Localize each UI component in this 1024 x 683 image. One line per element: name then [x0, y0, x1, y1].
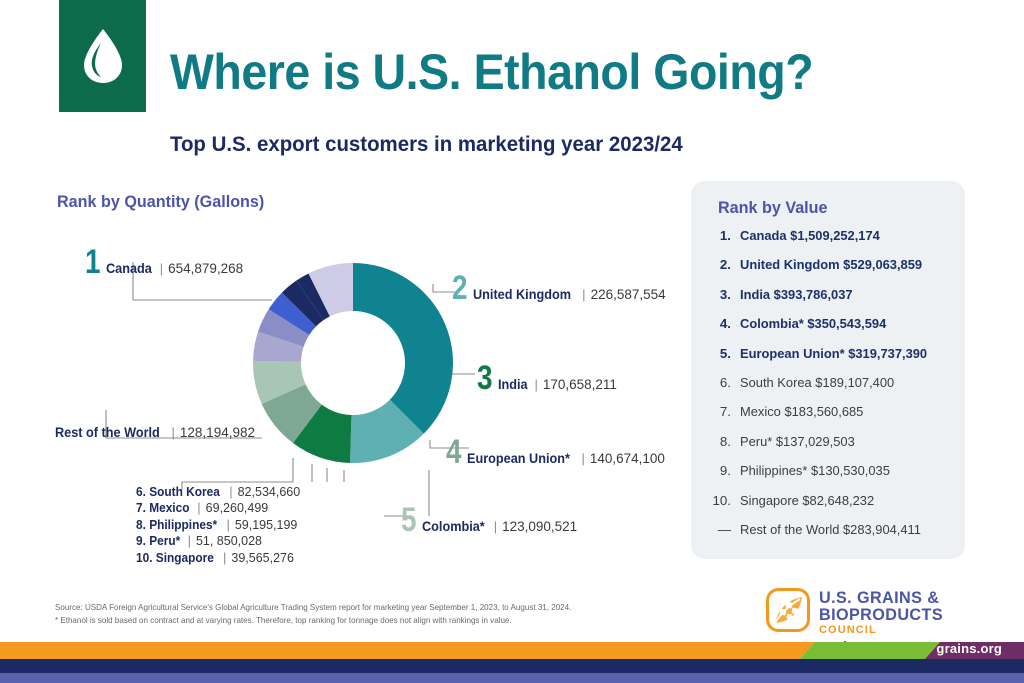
- page-title: Where is U.S. Ethanol Going?: [170, 47, 813, 97]
- page-subtitle: Top U.S. export customers in marketing y…: [170, 132, 683, 157]
- callout-rank-2: 2: [452, 271, 468, 305]
- council-name-line2: BIOPRODUCTS: [819, 607, 943, 624]
- value-rank-item-11: —Rest of the World $283,904,411: [705, 522, 927, 537]
- callout-value-2: 226,587,554: [591, 287, 666, 302]
- value-rank-text: Peru* $137,029,503: [740, 434, 855, 449]
- value-rank-text: European Union* $319,737,390: [740, 346, 927, 361]
- value-rank-item-3: 3.India $393,786,037: [705, 287, 856, 302]
- list-item: 9. Peru* | 51, 850,028: [136, 533, 300, 549]
- callout-value-3: 170,658,211: [543, 377, 617, 392]
- minor-value-9: 51, 850,028: [196, 533, 262, 549]
- value-rank-number: 2.: [705, 257, 731, 272]
- value-rank-text: Mexico $183,560,685: [740, 404, 863, 419]
- callout-value-1: 654,879,268: [168, 261, 243, 276]
- minor-value-6: 82,534,660: [238, 484, 301, 500]
- value-rank-item-2: 2.United Kingdom $529,063,859: [705, 257, 928, 272]
- value-rank-item-5: 5.European Union* $319,737,390: [705, 346, 933, 361]
- value-rank-number: 1.: [705, 228, 731, 243]
- callout-separator: |: [226, 517, 229, 533]
- callout-rank-3: 3: [477, 361, 493, 395]
- value-rank-number: 8.: [705, 434, 731, 449]
- value-rank-number: 5.: [705, 346, 731, 361]
- minor-value-7: 69,260,499: [206, 500, 269, 516]
- value-rank-item-10: 10.Singapore $82,648,232: [705, 493, 878, 508]
- value-rank-item-8: 8.Peru* $137,029,503: [705, 434, 858, 449]
- value-rank-text: Canada $1,509,252,174: [740, 228, 880, 243]
- callout-separator: |: [223, 550, 226, 566]
- value-rank-number: 4.: [705, 316, 731, 331]
- callout-separator: |: [172, 425, 175, 440]
- list-item: 8. Philippines* | 59,195,199: [136, 517, 300, 533]
- callout-name-3: India: [498, 377, 528, 392]
- donut-chart: [252, 262, 454, 464]
- callout-separator: |: [197, 500, 200, 516]
- rest-of-world-value: 128,194,982: [180, 425, 255, 440]
- list-item: 10. Singapore | 39,565,276: [136, 550, 300, 566]
- callout-rank-5: 5: [401, 503, 417, 537]
- minor-label-10: 10. Singapore: [136, 550, 214, 566]
- donut-slice-0: [353, 263, 453, 434]
- rank-by-value-panel: Rank by Value 1.Canada $1,509,252,1742.U…: [691, 181, 965, 559]
- callout-name-2: United Kingdom: [473, 287, 571, 302]
- minor-value-10: 39,565,276: [231, 550, 294, 566]
- callout-separator: |: [581, 451, 584, 466]
- value-rank-number: —: [705, 522, 731, 537]
- rest-of-world-label: Rest of the World: [55, 425, 160, 440]
- water-droplet-icon: [81, 27, 125, 85]
- callout-name-5: Colombia*: [422, 519, 485, 534]
- quantity-section-heading: Rank by Quantity (Gallons): [57, 192, 264, 212]
- band-green: [800, 642, 940, 659]
- bottom-color-bands: [0, 635, 1024, 683]
- callout-3: 3 India | 170,658,211: [477, 361, 617, 395]
- source-line-2: * Ethanol is sold based on contract and …: [55, 614, 571, 627]
- source-line-1: Source: USDA Foreign Agricultural Servic…: [55, 601, 571, 614]
- minor-value-8: 59,195,199: [235, 517, 298, 533]
- callout-rank-1: 1: [85, 245, 101, 279]
- value-rank-number: 6.: [705, 375, 731, 390]
- band-url-label[interactable]: grains.org: [936, 641, 1002, 656]
- minor-label-8: 8. Philippines*: [136, 517, 217, 533]
- grains-leaf-icon: [766, 588, 810, 632]
- callout-2: 2 United Kingdom | 226,587,554: [452, 271, 666, 305]
- callout-name-1: Canada: [106, 261, 152, 276]
- minor-rank-list: 6. South Korea | 82,534,660 7. Mexico | …: [136, 484, 300, 566]
- callout-4: 4 European Union* | 140,674,100: [446, 435, 665, 469]
- list-item: 6. South Korea | 82,534,660: [136, 484, 300, 500]
- infographic-page: Where is U.S. Ethanol Going? Top U.S. ex…: [0, 0, 1024, 683]
- callout-separator: |: [494, 519, 497, 534]
- band-navy: [0, 659, 1024, 673]
- callout-separator: |: [534, 377, 537, 392]
- council-name-line1: U.S. GRAINS &: [819, 590, 943, 607]
- value-rank-text: Rest of the World $283,904,411: [740, 522, 921, 537]
- callout-separator: |: [582, 287, 585, 302]
- minor-label-6: 6. South Korea: [136, 484, 220, 500]
- callout-value-5: 123,090,521: [502, 519, 577, 534]
- value-rank-item-4: 4.Colombia* $350,543,594: [705, 316, 891, 331]
- value-rank-text: Philippines* $130,530,035: [740, 463, 890, 478]
- value-rank-number: 10.: [705, 493, 731, 508]
- callout-rank-4: 4: [446, 435, 462, 469]
- callout-value-4: 140,674,100: [590, 451, 665, 466]
- value-rank-item-1: 1.Canada $1,509,252,174: [705, 228, 884, 243]
- value-rank-item-7: 7.Mexico $183,560,685: [705, 404, 867, 419]
- value-rank-number: 9.: [705, 463, 731, 478]
- band-blue: [0, 673, 1024, 683]
- value-rank-text: South Korea $189,107,400: [740, 375, 894, 390]
- value-panel-heading: Rank by Value: [718, 198, 828, 218]
- band-orange: [0, 642, 815, 659]
- callout-5: 5 Colombia* | 123,090,521: [401, 503, 577, 537]
- minor-label-7: 7. Mexico: [136, 500, 189, 516]
- value-rank-item-6: 6.South Korea $189,107,400: [705, 375, 899, 390]
- value-rank-number: 7.: [705, 404, 731, 419]
- callout-1: 1 Canada | 654,879,268: [85, 245, 243, 279]
- callout-name-4: European Union*: [467, 451, 570, 466]
- list-item: 7. Mexico | 69,260,499: [136, 500, 300, 516]
- droplet-logo-badge: [59, 0, 146, 112]
- value-rank-text: Singapore $82,648,232: [740, 493, 874, 508]
- callout-separator: |: [160, 261, 163, 276]
- value-rank-text: India $393,786,037: [740, 287, 853, 302]
- value-rank-number: 3.: [705, 287, 731, 302]
- callout-separator: |: [229, 484, 232, 500]
- callout-separator: |: [188, 533, 191, 549]
- source-note: Source: USDA Foreign Agricultural Servic…: [55, 601, 571, 626]
- rest-of-world-row: Rest of the World | 128,194,982: [55, 425, 255, 440]
- value-rank-text: Colombia* $350,543,594: [740, 316, 886, 331]
- minor-label-9: 9. Peru*: [136, 533, 180, 549]
- value-rank-text: United Kingdom $529,063,859: [740, 257, 922, 272]
- value-rank-item-9: 9.Philippines* $130,530,035: [705, 463, 895, 478]
